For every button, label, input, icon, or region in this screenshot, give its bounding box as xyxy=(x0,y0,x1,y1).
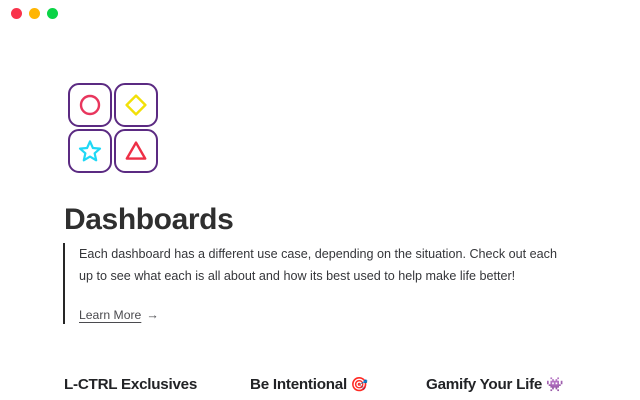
hero-quote-block: Each dashboard has a different use case,… xyxy=(63,243,573,324)
section-heading-l-ctrl-exclusives[interactable]: L-CTRL Exclusives xyxy=(64,374,197,395)
app-window: Dashboards Each dashboard has a differen… xyxy=(0,0,640,400)
close-window-button[interactable] xyxy=(11,8,22,19)
section-heading-row: L-CTRL Exclusives Be Intentional 🎯 Gamif… xyxy=(0,374,640,400)
title-bar xyxy=(0,0,640,26)
section-heading-gamify-your-life[interactable]: Gamify Your Life 👾 xyxy=(426,374,563,395)
traffic-lights xyxy=(11,8,58,19)
learn-more-button[interactable]: Learn More → xyxy=(79,308,159,322)
triangle-icon xyxy=(124,139,148,163)
page-title: Dashboards xyxy=(64,203,233,237)
maximize-window-button[interactable] xyxy=(47,8,58,19)
alien-monster-emoji-icon: 👾 xyxy=(546,376,563,392)
target-emoji-icon: 🎯 xyxy=(351,376,368,392)
icon-tile-star xyxy=(68,129,112,173)
section-heading-be-intentional[interactable]: Be Intentional 🎯 xyxy=(250,374,368,395)
icon-tile-diamond xyxy=(114,83,158,127)
learn-more-label[interactable]: Learn More xyxy=(79,308,141,322)
icon-tile-circle xyxy=(68,83,112,127)
dashboard-icon-grid xyxy=(68,83,158,173)
section-label: Be Intentional xyxy=(250,376,347,393)
arrow-right-icon: → xyxy=(146,309,159,322)
icon-tile-triangle xyxy=(114,129,158,173)
circle-icon xyxy=(78,93,102,117)
minimize-window-button[interactable] xyxy=(29,8,40,19)
star-icon xyxy=(78,139,102,163)
section-label: L-CTRL Exclusives xyxy=(64,376,197,393)
diamond-icon xyxy=(124,93,148,117)
hero-body-text: Each dashboard has a different use case,… xyxy=(79,243,567,287)
section-label: Gamify Your Life xyxy=(426,376,542,393)
